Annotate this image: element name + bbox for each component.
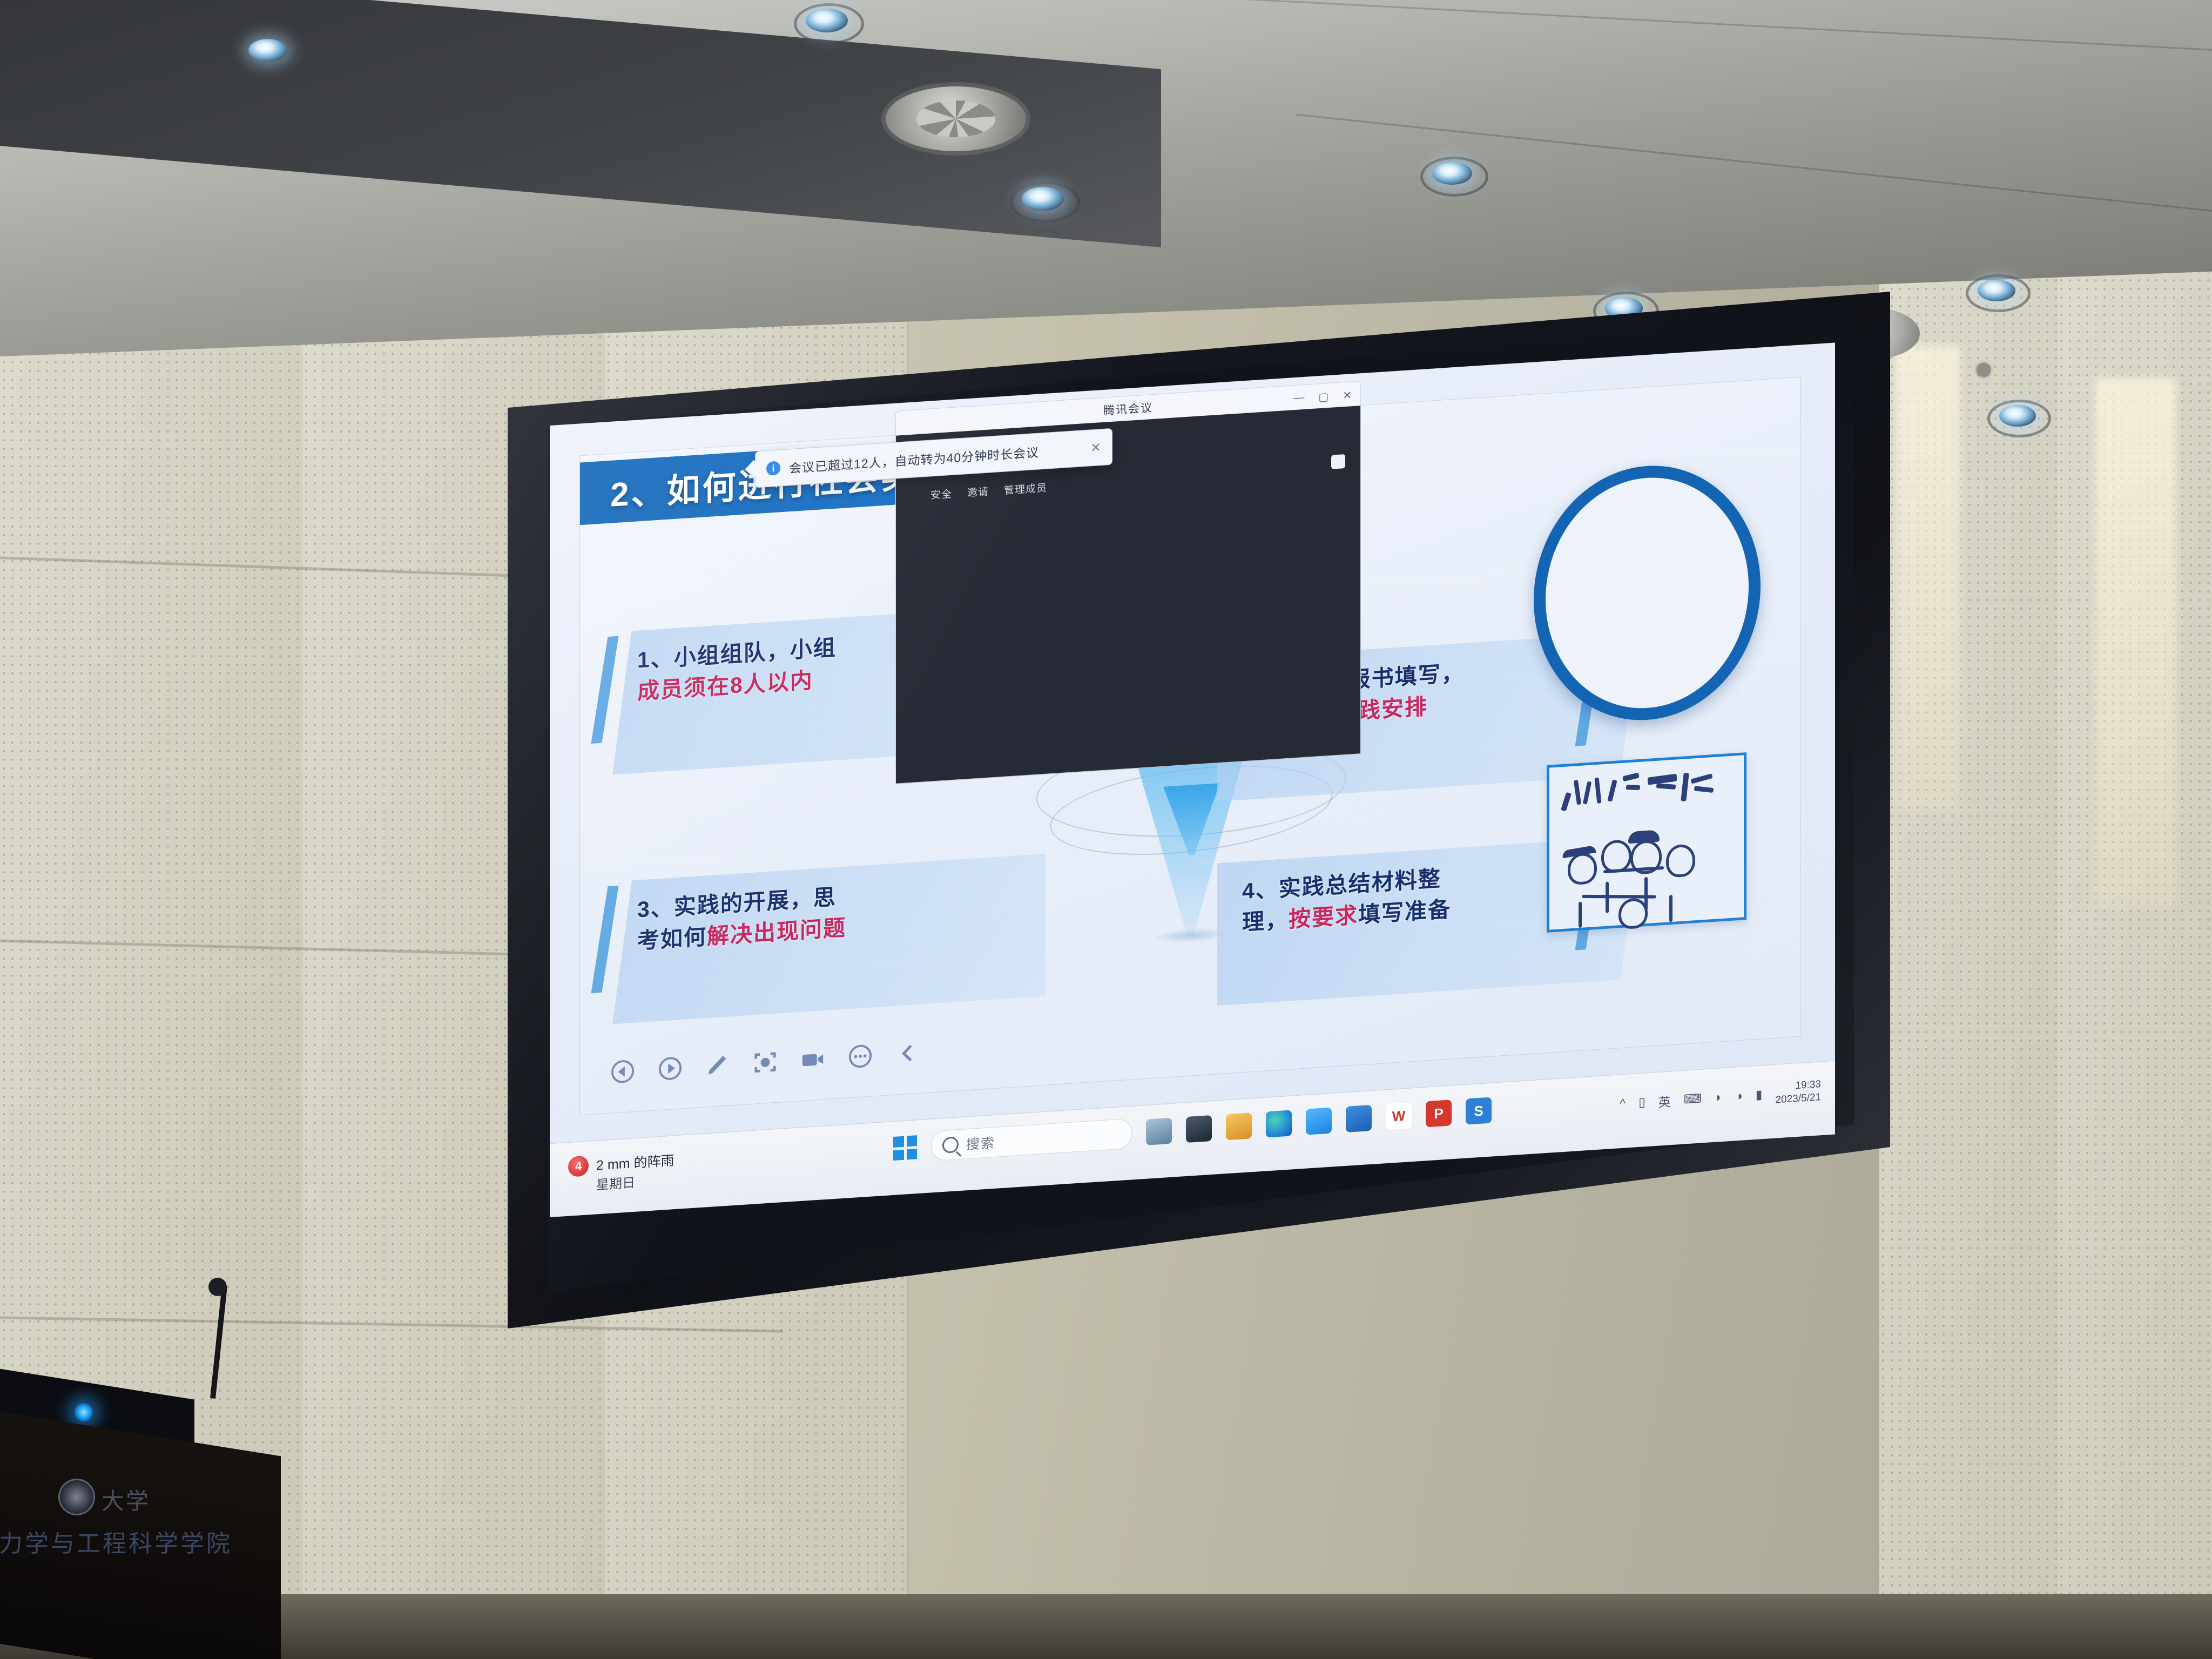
taskbar-app-wps-writer[interactable]: W: [1386, 1102, 1412, 1130]
tencent-meeting-window[interactable]: 腾讯会议 — ▢ ✕: [895, 381, 1360, 783]
step-4-line-2-tail: 填写准备: [1358, 897, 1451, 928]
pen-annotate-icon[interactable]: [705, 1052, 730, 1078]
meeting-toolbar-members[interactable]: 管理成员: [1004, 480, 1047, 497]
search-input[interactable]: 搜索: [931, 1118, 1132, 1161]
windows-desktop: 2、如何进行社会实践 社会实践流程 社会实践流程: [550, 342, 1835, 1217]
screenshot-icon[interactable]: [753, 1049, 778, 1076]
ime-icon[interactable]: 英: [1658, 1091, 1671, 1110]
prev-slide-icon[interactable]: [610, 1058, 635, 1085]
minimize-icon[interactable]: —: [1293, 392, 1304, 406]
lecture-hall-photo: 2、如何进行社会实践 社会实践流程 社会实践流程: [0, 0, 2212, 1659]
search-icon: [942, 1136, 959, 1154]
team-illustration: [1552, 478, 1742, 708]
institution-name-line-2: 力学与工程科学学院: [0, 1524, 232, 1559]
slideshow-area: 2、如何进行社会实践 社会实践流程 社会实践流程: [550, 342, 1835, 1144]
ceiling-downlight: [1978, 280, 2015, 301]
clock[interactable]: 19:33 2023/5/21: [1775, 1078, 1821, 1107]
ceiling-vent: [886, 86, 1026, 151]
next-slide-icon[interactable]: [658, 1055, 683, 1082]
ceiling-sprinkler: [1977, 363, 1991, 377]
meeting-toolbar-invite[interactable]: 邀请: [967, 484, 989, 500]
taskbar-app-tencent-meeting[interactable]: [1306, 1108, 1332, 1135]
step-4-line-2-red: 按要求: [1289, 903, 1358, 932]
taskbar-app-wps-spreadsheet[interactable]: S: [1466, 1097, 1492, 1125]
toast-close-icon[interactable]: ✕: [1090, 440, 1101, 456]
tray-overflow-icon[interactable]: ^: [1620, 1096, 1626, 1111]
taskbar-app-wps-office[interactable]: [1346, 1105, 1372, 1132]
power-icon[interactable]: ▮: [1756, 1087, 1763, 1102]
taskbar-app-edge-browser[interactable]: [1266, 1110, 1292, 1137]
ceiling-downlight: [1022, 187, 1064, 211]
keyboard-icon[interactable]: ⌨: [1684, 1091, 1702, 1107]
ceiling-downlight: [248, 39, 287, 62]
university-emblem: [58, 1479, 95, 1515]
system-tray[interactable]: ^ ▯ 英 ⌨ ◗ ◑ ▮ 19:33 2023/5/21: [1620, 1078, 1821, 1117]
floor-strip: [0, 1594, 2212, 1659]
start-button[interactable]: [893, 1135, 917, 1161]
weather-icon: 4: [568, 1155, 589, 1177]
step-3-box[interactable]: 3、实践的开展，思 考如何解决出现问题: [612, 854, 1046, 1024]
taskbar-weather-widget[interactable]: 4 2 mm 的阵雨 星期日: [568, 1150, 674, 1195]
taskbar-app-file-explorer[interactable]: [1226, 1112, 1252, 1140]
meeting-toast-text: 会议已超过12人，自动转为40分钟时长会议: [789, 442, 1039, 477]
more-options-icon[interactable]: [848, 1043, 873, 1069]
search-placeholder: 搜索: [966, 1132, 995, 1154]
wall-light-column: [2095, 378, 2176, 907]
window-controls[interactable]: — ▢ ✕: [1293, 388, 1352, 406]
record-icon[interactable]: [800, 1046, 825, 1073]
ceiling-downlight: [1999, 405, 2036, 427]
step-3-line-2-plain: 考如何: [637, 924, 707, 953]
institution-name-line-1: 大学: [102, 1483, 150, 1516]
step-3-accent-bar: [591, 886, 618, 993]
close-icon[interactable]: ✕: [1343, 388, 1352, 402]
slideshow-toolbar[interactable]: [610, 1040, 920, 1085]
wifi-icon[interactable]: ◗: [1715, 1090, 1722, 1105]
step-3-line-2-red: 解决出现问题: [707, 915, 846, 949]
step-4-line-2-plain: 理，: [1242, 907, 1289, 935]
wall-light-column: [1896, 346, 1960, 810]
maximize-icon[interactable]: ▢: [1318, 390, 1328, 404]
team-illustration-frame: [1534, 458, 1761, 727]
taskbar-app-notes[interactable]: [1186, 1115, 1212, 1143]
collapse-toolbar-icon[interactable]: [895, 1040, 920, 1067]
meeting-toolbar-labels[interactable]: 安全 邀请 管理成员: [930, 480, 1047, 502]
ceiling-downlight: [1432, 162, 1472, 185]
microphone-head: [208, 1278, 227, 1296]
clock-date: 2023/5/21: [1775, 1091, 1821, 1107]
taskbar-app-widgets[interactable]: [1146, 1118, 1172, 1145]
lectern-led-indicator: [75, 1403, 93, 1421]
meeting-toolbar-security[interactable]: 安全: [930, 486, 952, 502]
screen-display-content: 2、如何进行社会实践 社会实践流程 社会实践流程: [550, 342, 1835, 1217]
volume-icon[interactable]: ◑: [1735, 1089, 1743, 1104]
info-icon: i: [766, 461, 780, 476]
taskbar-app-wps-presentation[interactable]: P: [1426, 1100, 1452, 1127]
projection-screen: 2、如何进行社会实践 社会实践流程 社会实践流程: [508, 292, 1890, 1328]
hand-sketch-box: [1547, 752, 1746, 933]
lectern: 大学 力学与工程科学学院: [0, 1382, 281, 1659]
clock-time: 19:33: [1795, 1078, 1821, 1092]
battery-icon[interactable]: ▯: [1638, 1095, 1645, 1110]
ceiling-downlight: [806, 9, 848, 32]
meeting-window-title: 腾讯会议: [1103, 399, 1153, 419]
hamburger-icon[interactable]: [1331, 454, 1345, 469]
step-1-accent-bar: [591, 636, 618, 744]
